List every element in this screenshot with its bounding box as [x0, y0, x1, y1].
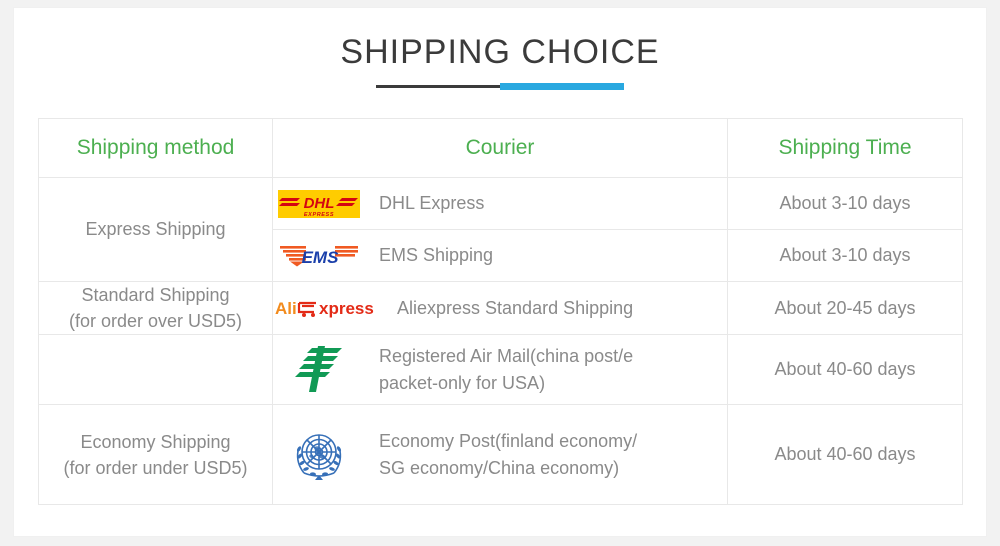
table-header-row: Shipping method Courier Shipping Time: [39, 119, 963, 178]
shipping-time-aliexpress: About 20-45 days: [728, 282, 963, 335]
svg-text:EXPRESS: EXPRESS: [304, 212, 334, 218]
underline-dark-segment: [376, 85, 500, 88]
title-underline: [376, 83, 624, 90]
courier-name-line2: packet-only for USA): [379, 373, 545, 393]
ems-logo: EMS: [273, 241, 365, 271]
method-name: Economy Shipping: [39, 429, 272, 455]
shipping-time-dhl: About 3-10 days: [728, 178, 963, 230]
title-block: SHIPPING CHOICE: [14, 8, 986, 90]
shipping-options-table: Shipping method Courier Shipping Time Ex…: [38, 118, 963, 505]
courier-name: Aliexpress Standard Shipping: [397, 295, 633, 322]
courier-name-line1: Economy Post(finland economy/: [379, 431, 637, 451]
svg-text:DHL: DHL: [304, 195, 335, 212]
shipping-time-economy-post: About 40-60 days: [728, 405, 963, 505]
courier-name: DHL Express: [379, 190, 484, 217]
method-note: (for order under USD5): [39, 455, 272, 481]
table-row: Registered Air Mail(china post/e packet-…: [39, 335, 963, 405]
method-standard-shipping-continued: [39, 335, 273, 405]
shipping-time-ems: About 3-10 days: [728, 230, 963, 282]
svg-text:xpress: xpress: [319, 299, 374, 318]
underline-blue-segment: [500, 83, 624, 90]
courier-name-line2: SG economy/China economy): [379, 458, 619, 478]
column-header-shipping-method: Shipping method: [39, 119, 273, 178]
table-row: Express Shipping: [39, 178, 963, 230]
un-logo: [273, 427, 365, 483]
svg-text:Ali: Ali: [275, 299, 297, 318]
courier-cell-aliexpress: Ali xpress Aliexpress Standard Shippin: [273, 282, 728, 335]
shipping-time-china-post: About 40-60 days: [728, 335, 963, 405]
method-standard-shipping: Standard Shipping (for order over USD5): [39, 282, 273, 335]
courier-name: EMS Shipping: [379, 242, 493, 269]
column-header-courier: Courier: [273, 119, 728, 178]
method-express-shipping: Express Shipping: [39, 178, 273, 282]
courier-name: Economy Post(finland economy/ SG economy…: [379, 428, 637, 482]
china-post-logo: [273, 344, 365, 396]
courier-cell-economy-post: Economy Post(finland economy/ SG economy…: [273, 405, 728, 505]
courier-cell-ems: EMS EMS Shipping: [273, 230, 728, 282]
courier-cell-dhl: DHL EXPRESS DHL Express: [273, 178, 728, 230]
courier-name: Registered Air Mail(china post/e packet-…: [379, 343, 633, 397]
method-name: Standard Shipping: [39, 282, 272, 308]
method-note: (for order over USD5): [39, 308, 272, 334]
dhl-logo: DHL EXPRESS: [273, 188, 365, 220]
column-header-shipping-time: Shipping Time: [728, 119, 963, 178]
table-row: Standard Shipping (for order over USD5) …: [39, 282, 963, 335]
page-title: SHIPPING CHOICE: [14, 34, 986, 71]
aliexpress-logo: Ali xpress: [273, 295, 383, 321]
table-row: Economy Shipping (for order under USD5): [39, 405, 963, 505]
method-economy-shipping: Economy Shipping (for order under USD5): [39, 405, 273, 505]
shipping-card: SHIPPING CHOICE Shipping method Courier …: [14, 8, 986, 536]
courier-cell-china-post: Registered Air Mail(china post/e packet-…: [273, 335, 728, 405]
courier-name-line1: Registered Air Mail(china post/e: [379, 346, 633, 366]
svg-text:EMS: EMS: [302, 248, 340, 267]
method-name: Express Shipping: [39, 216, 272, 242]
